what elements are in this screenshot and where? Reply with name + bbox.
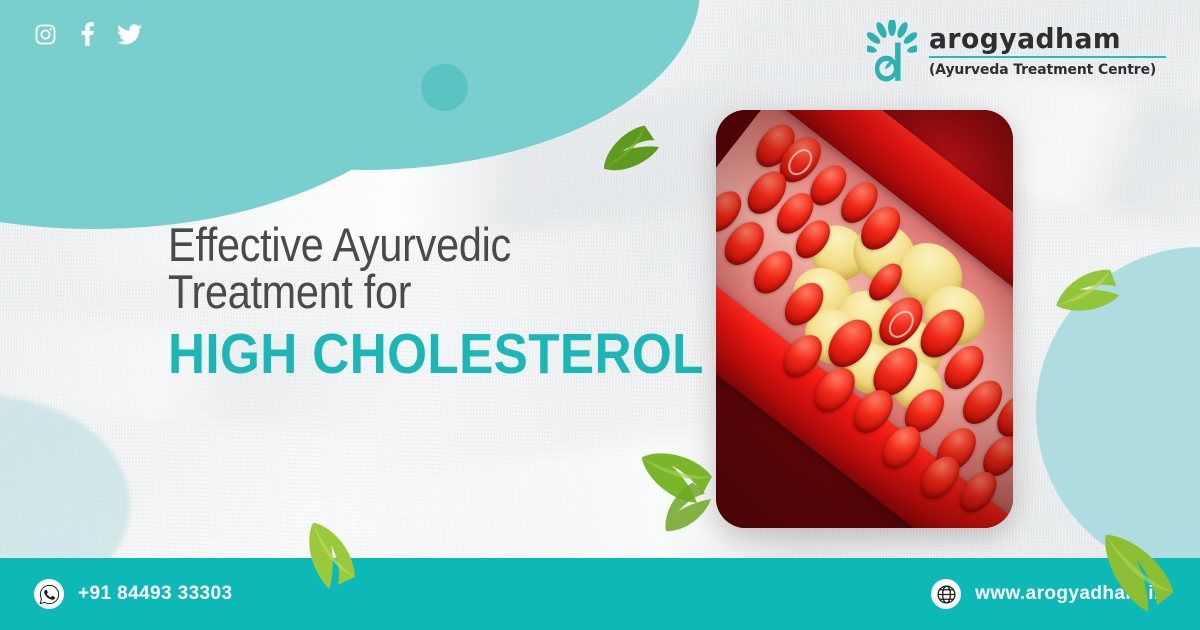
instagram-icon[interactable]	[34, 23, 57, 46]
contact-footer: +91 84493 33303 www.arogyadham.in	[0, 558, 1200, 630]
leaf-decoration	[592, 122, 662, 185]
facebook-icon[interactable]	[79, 22, 95, 46]
headline-line-1: Effective Ayurvedic	[168, 222, 626, 269]
phone-number: +91 84493 33303	[78, 583, 232, 605]
logo-name: arogyadham	[929, 24, 1154, 53]
promo-banner: arogyadham (Ayurveda Treatment Centre) E…	[0, 0, 1200, 630]
phone-contact[interactable]: +91 84493 33303	[34, 579, 232, 609]
teal-circle-accent	[421, 64, 468, 111]
brand-logo[interactable]: arogyadham (Ayurveda Treatment Centre)	[867, 20, 1166, 82]
cholesterol-artery-image	[716, 110, 1013, 528]
leaf-a-monogram-icon	[867, 20, 917, 82]
headline-block: Effective Ayurvedic Treatment for HIGH C…	[168, 222, 688, 386]
twitter-icon[interactable]	[117, 24, 142, 45]
globe-icon	[931, 579, 961, 609]
whatsapp-icon	[34, 579, 64, 609]
social-links	[34, 22, 142, 46]
headline-line-2: Treatment for	[168, 269, 626, 316]
headline-accent: HIGH CHOLESTEROL	[168, 324, 636, 386]
logo-tagline: (Ayurveda Treatment Centre)	[929, 62, 1156, 78]
logo-divider	[929, 56, 1166, 58]
